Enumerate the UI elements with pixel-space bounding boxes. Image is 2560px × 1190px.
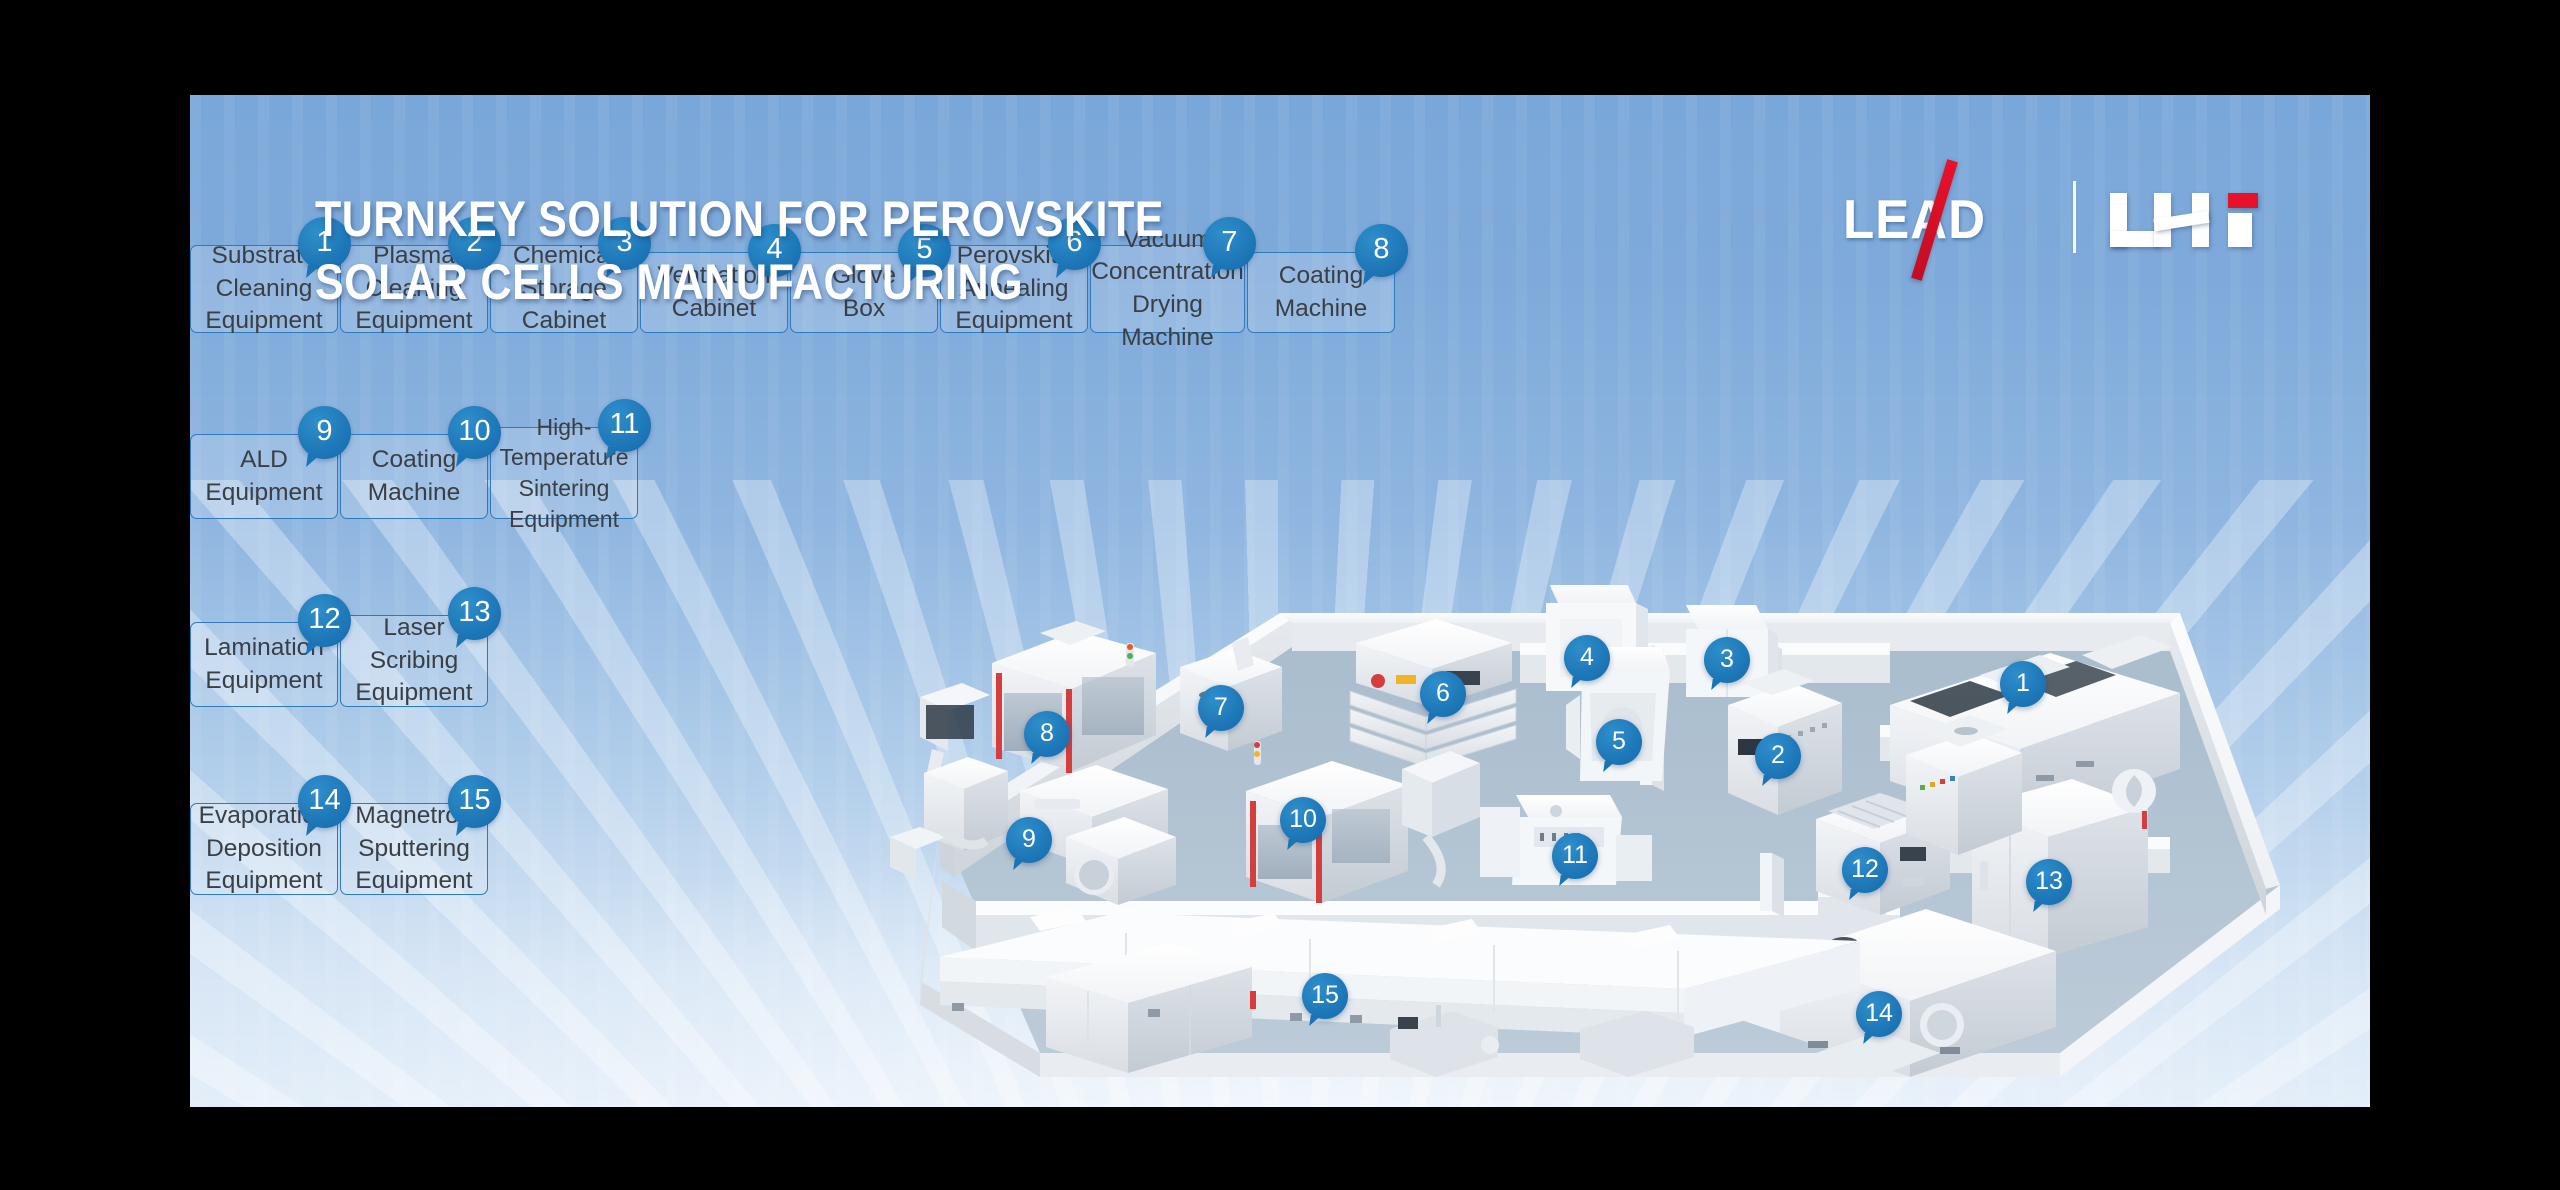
legend-badge-15-number: 15 xyxy=(458,784,490,817)
logo-divider xyxy=(2073,181,2076,253)
legend-badge-12-number: 12 xyxy=(308,603,340,636)
legend-badge-8[interactable]: 8 xyxy=(1355,224,1408,277)
legend-badge-15[interactable]: 15 xyxy=(448,775,501,828)
poster-canvas: TURNKEY SOLUTION FOR PEROVSKITE SOLAR CE… xyxy=(0,0,2560,1190)
scene-marker-13[interactable]: 13 xyxy=(2026,859,2072,905)
lhi-logo-red-accent-icon xyxy=(2228,193,2258,208)
lead-logo-text: LEAD xyxy=(1843,187,1986,251)
legend-badge-7[interactable]: 7 xyxy=(1203,217,1256,270)
scene-marker-5[interactable]: 5 xyxy=(1596,719,1642,765)
scene-marker-3[interactable]: 3 xyxy=(1704,637,1750,683)
legend-badge-9[interactable]: 9 xyxy=(298,406,351,459)
legend-badge-13[interactable]: 13 xyxy=(448,587,501,640)
lhi-logo-dot-stem xyxy=(2228,213,2252,247)
scene-marker-12[interactable]: 12 xyxy=(1842,847,1888,893)
scene-marker-9[interactable]: 9 xyxy=(1006,817,1052,863)
scene-marker-15[interactable]: 15 xyxy=(1302,973,1348,1019)
legend-badge-7-number: 7 xyxy=(1221,226,1237,259)
scene-marker-14[interactable]: 14 xyxy=(1856,991,1902,1037)
legend-badge-12[interactable]: 12 xyxy=(298,594,351,647)
lead-logo: LEAD xyxy=(1843,185,2039,249)
scene-marker-7[interactable]: 7 xyxy=(1198,685,1244,731)
page-title: TURNKEY SOLUTION FOR PEROVSKITE SOLAR CE… xyxy=(315,188,1164,314)
legend-badge-9-number: 9 xyxy=(316,415,332,448)
scene-marker-11[interactable]: 11 xyxy=(1552,833,1598,879)
legend-badge-14[interactable]: 14 xyxy=(298,775,351,828)
legend-card-9-label: ALD Equipment xyxy=(205,444,322,509)
scene-marker-6[interactable]: 6 xyxy=(1420,671,1466,717)
legend-badge-14-number: 14 xyxy=(308,784,340,817)
legend-card-12-label: Lamination Equipment xyxy=(204,632,324,697)
factory-floor-plan: 1 2 3 4 5 6 7 8 9 10 11 12 13 14 15 xyxy=(880,585,2300,1107)
scene-marker-2[interactable]: 2 xyxy=(1755,733,1801,779)
scene-marker-8[interactable]: 8 xyxy=(1024,711,1070,757)
legend-card-8-label: Coating Machine xyxy=(1275,260,1368,325)
legend-card-10-label: Coating Machine xyxy=(368,444,461,509)
legend-badge-10[interactable]: 10 xyxy=(448,406,501,459)
logo-group: LEAD xyxy=(1843,181,2258,253)
lhi-logo xyxy=(2110,187,2258,247)
legend-badge-11-number: 11 xyxy=(609,408,639,441)
lhi-logo-bar-2 xyxy=(2110,231,2158,247)
scene-marker-1[interactable]: 1 xyxy=(2000,661,2046,707)
poster-frame: TURNKEY SOLUTION FOR PEROVSKITE SOLAR CE… xyxy=(190,95,2370,1107)
legend-badge-10-number: 10 xyxy=(458,415,490,448)
legend-badge-13-number: 13 xyxy=(458,596,490,629)
scene-marker-10[interactable]: 10 xyxy=(1280,797,1326,843)
scene-marker-4[interactable]: 4 xyxy=(1564,635,1610,681)
legend-badge-8-number: 8 xyxy=(1373,233,1389,266)
legend-badge-11[interactable]: 11 xyxy=(598,399,651,452)
